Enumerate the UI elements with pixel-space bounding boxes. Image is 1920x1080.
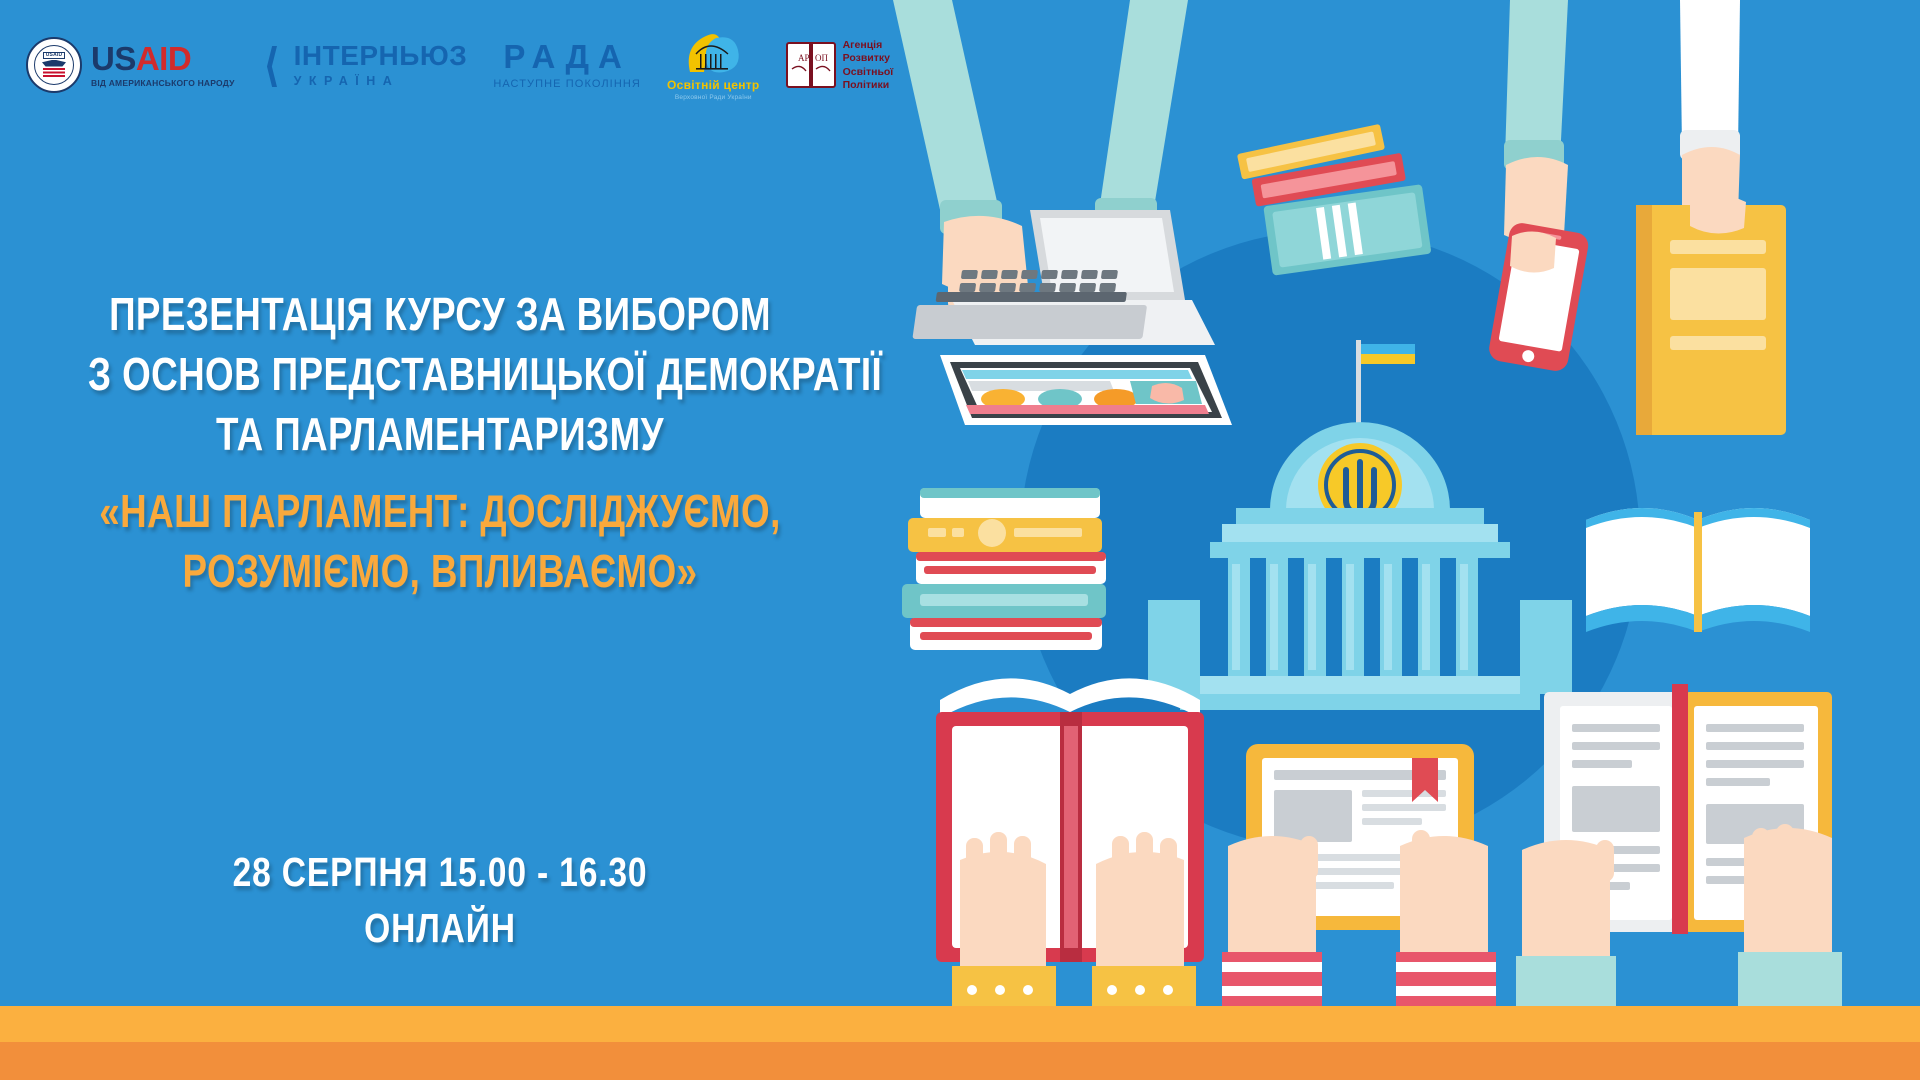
event-date-time: 28 СЕРПНЯ 15.00 - 16.30 (79, 845, 801, 901)
headline-line-2: З ОСНОВ ПРЕДСТАВНИЦЬКОЇ ДЕМОКРАТІЇ (88, 345, 792, 405)
osvitniy-tsentr-subtitle: Верховної Ради України (675, 94, 752, 101)
bottom-bar-dark (0, 1042, 1920, 1080)
event-format: ОНЛАЙН (79, 901, 801, 957)
usaid-wordmark: USAID (91, 42, 235, 75)
usaid-tagline: ВІД АМЕРИКАНСЬКОГО НАРОДУ (91, 78, 235, 88)
internews-wordmark: ІНТЕРНЬЮЗ (294, 42, 468, 70)
course-title-quote: «НАШ ПАРЛАМЕНТ: ДОСЛІДЖУЄМО, РОЗУМІЄМО, … (0, 482, 880, 602)
logo-rada[interactable]: РАДА НАСТУПНЕ ПОКОЛІННЯ (493, 28, 641, 102)
headline-block: ПРЕЗЕНТАЦІЯ КУРСУ ЗА ВИБОРОМ З ОСНОВ ПРЕ… (0, 285, 880, 602)
course-title-line-1: «НАШ ПАРЛАМЕНТ: ДОСЛІДЖУЄМО, (88, 482, 792, 542)
osvitniy-tsentr-name: Освітній центр (667, 79, 760, 91)
usaid-word-aid: AID (136, 40, 191, 77)
open-book-white-illustration (1586, 508, 1810, 632)
partner-logo-row: USAID USAID ВІД АМЕРИКАНСЬКОГО НАРОДУ ⟨ … (26, 28, 893, 102)
usaid-seal-label: USAID (43, 52, 66, 59)
stacked-books-left-illustration (902, 488, 1106, 650)
arop-line-2: Розвитку (843, 52, 894, 64)
parliament-mark-icon (682, 30, 744, 76)
arop-line-1: Агенція (843, 39, 894, 51)
headline-line-3: ТА ПАРЛАМЕНТАРИЗМУ (88, 405, 792, 465)
svg-text:ОП: ОП (815, 53, 828, 63)
logo-arop[interactable]: АР ОП Агенція Розвитку Освітньої Політик… (786, 28, 894, 102)
laptop-with-hands-illustration (893, 0, 1215, 345)
arop-line-3: Освітньої (843, 66, 894, 78)
internews-subtitle: УКРАЇНА (294, 74, 468, 88)
rada-wordmark: РАДА (503, 40, 631, 73)
course-title-line-2: РОЗУМІЄМО, ВПЛИВАЄМО» (88, 542, 792, 602)
usaid-word-us: US (91, 40, 136, 77)
logo-usaid[interactable]: USAID USAID ВІД АМЕРИКАНСЬКОГО НАРОДУ (26, 28, 235, 102)
arop-line-4: Політики (843, 79, 894, 91)
open-book-icon: АР ОП (786, 39, 836, 91)
schedule-block: 28 СЕРПНЯ 15.00 - 16.30 ОНЛАЙН (0, 845, 880, 957)
rada-subtitle: НАСТУПНЕ ПОКОЛІННЯ (493, 78, 641, 90)
tablet-device-illustration (940, 355, 1232, 425)
logo-osvitniy-tsentr[interactable]: Освітній центр Верховної Ради України (667, 28, 760, 102)
headline-line-1: ПРЕЗЕНТАЦІЯ КУРСУ ЗА ВИБОРОМ (88, 285, 792, 345)
svg-text:АР: АР (798, 53, 810, 63)
poster-canvas: USAID USAID ВІД АМЕРИКАНСЬКОГО НАРОДУ ⟨ … (0, 0, 1920, 1080)
logo-internews[interactable]: ⟨ ІНТЕРНЬЮЗ УКРАЇНА (261, 28, 468, 102)
bottom-bar-light (0, 1006, 1920, 1042)
chevron-left-icon: ⟨ (263, 47, 280, 84)
yellow-book-in-hand-illustration (1636, 0, 1786, 435)
stacked-books-tilted-illustration (1237, 124, 1432, 276)
usaid-seal-icon: USAID (26, 37, 82, 93)
smartphone-in-hand-illustration (1487, 0, 1590, 373)
